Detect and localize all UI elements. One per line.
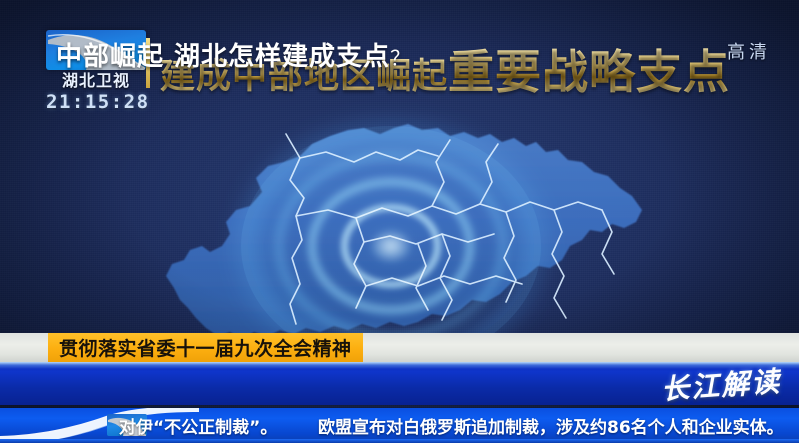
- hd-badge: 高清: [727, 38, 771, 64]
- channel-name-label: 湖北卫视: [46, 73, 146, 90]
- news-ticker: 对伊“不公正制裁”。 欧盟宣布对白俄罗斯追加制裁，涉及约86名个人和企业实体。: [0, 408, 799, 443]
- ticker-item-one: 对伊“不公正制裁”。: [119, 408, 277, 443]
- headline-part-two: 重要战略支点: [448, 36, 730, 102]
- program-watermark: 长江解读: [660, 360, 783, 408]
- ticker-bottom-line: [0, 439, 799, 443]
- lower-third-kicker: 贯彻落实省委十一届九次全会精神: [48, 333, 363, 362]
- lower-third-title: 中部崛起 湖北怎样建成支点？: [56, 36, 411, 73]
- ticker-item-two: 欧盟宣布对白俄罗斯追加制裁，涉及约86名个人和企业实体。: [318, 408, 784, 443]
- lower-third-title-question-mark: ？: [390, 46, 411, 70]
- onscreen-clock: 21:15:28: [46, 91, 146, 113]
- lower-third-title-text: 中部崛起 湖北怎样建成支点: [56, 42, 390, 72]
- broadcast-frame: 湖北卫视 21:15:28 建成中部地区崛起 重要战略支点 高清 贯彻落实省委十…: [0, 0, 799, 443]
